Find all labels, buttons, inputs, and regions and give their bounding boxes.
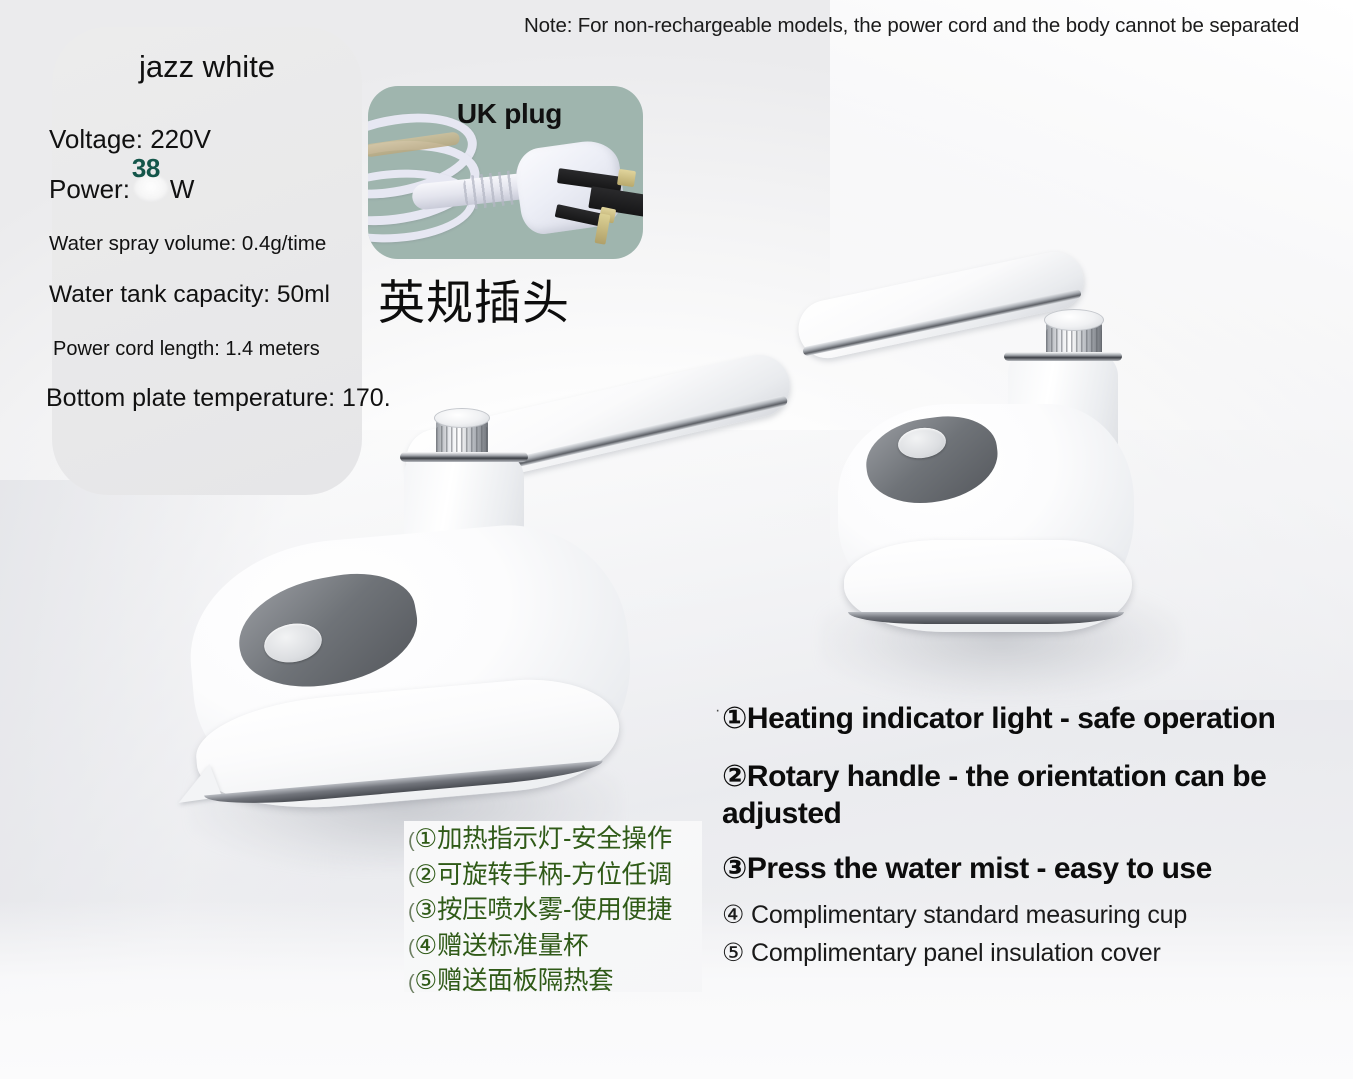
feature-text-cn: 按压喷水雾-使用便捷	[437, 896, 672, 924]
feature-number-cn: ②	[414, 861, 437, 889]
feature-item-en: ④ Complimentary standard measuring cup	[722, 898, 1187, 932]
spec-power-value-group: 38	[130, 197, 170, 198]
feature-item-cn: (⑤赠送面板隔热套	[408, 965, 708, 1001]
feature-number-cn: ③	[414, 896, 437, 924]
spec-cord-length: Power cord length: 1.4 meters	[53, 338, 320, 361]
feature-number-en: ②	[722, 760, 747, 793]
feature-text-en: Heating indicator light - safe operation	[747, 702, 1275, 735]
feature-item-en: ①Heating indicator light - safe operatio…	[722, 700, 1332, 737]
bullet-artifact: ·	[715, 702, 720, 720]
feature-item-en: ⑤ Complimentary panel insulation cover	[722, 936, 1161, 970]
uk-plug-caption-cn: 英规插头	[378, 274, 570, 332]
feature-text-en: Complimentary panel insulation cover	[744, 939, 1160, 967]
spec-water-spray: Water spray volume: 0.4g/time	[49, 232, 326, 256]
feature-item-cn: (③按压喷水雾-使用便捷	[408, 894, 708, 930]
spec-power: Power: 38 W	[49, 175, 194, 205]
feature-number-en: ④	[722, 901, 744, 929]
spec-plate-temperature: Bottom plate temperature: 170.	[46, 384, 391, 413]
feature-number-cn: ④	[414, 932, 437, 960]
plug-pin-neutral-tip	[617, 169, 636, 187]
feature-text-en: Press the water mist - easy to use	[747, 852, 1212, 885]
feature-list-cn: (①加热指示灯-安全操作 (②可旋转手柄-方位任调 (③按压喷水雾-使用便捷 (…	[408, 823, 708, 1001]
feature-item-cn: (④赠送标准量杯	[408, 930, 708, 966]
feature-text-cn: 加热指示灯-安全操作	[437, 825, 672, 853]
soleplate-chrome-rim	[848, 612, 1124, 624]
uk-plug-card: UK plug	[368, 86, 643, 259]
feature-number-cn: ①	[414, 825, 437, 853]
product-listing-image: Note: For non-rechargeable models, the p…	[0, 0, 1353, 1079]
feature-text-cn: 可旋转手柄-方位任调	[437, 861, 672, 889]
knob-cap	[434, 408, 490, 428]
feature-number-cn: ⑤	[414, 967, 437, 995]
knob-cap	[1044, 309, 1104, 331]
feature-item-en: ③Press the water mist - easy to use	[722, 850, 1332, 887]
feature-text-cn: 赠送面板隔热套	[437, 967, 613, 995]
uk-plug-label: UK plug	[368, 98, 643, 130]
feature-number-en: ①	[722, 702, 747, 735]
feature-text-en: Complimentary standard measuring cup	[744, 901, 1187, 929]
disclaimer-note: Note: For non-rechargeable models, the p…	[524, 13, 1353, 39]
specification-panel	[52, 27, 362, 495]
feature-item-cn: (②可旋转手柄-方位任调	[408, 859, 708, 895]
feature-number-en: ⑤	[722, 939, 744, 967]
product-color-title: jazz white	[52, 48, 362, 86]
feature-text-cn: 赠送标准量杯	[437, 932, 588, 960]
spec-power-unit: W	[170, 175, 195, 205]
spec-power-label: Power:	[49, 175, 130, 205]
feature-number-en: ③	[722, 852, 747, 885]
feature-item-en: ②Rotary handle - the orientation can be …	[722, 758, 1312, 832]
spec-power-value: 38	[132, 155, 160, 181]
pivot-chrome-band	[400, 452, 528, 462]
pivot-chrome-band	[1004, 352, 1122, 361]
feature-item-cn: (①加热指示灯-安全操作	[408, 823, 708, 859]
feature-text-en: Rotary handle - the orientation can be a…	[722, 760, 1266, 830]
spec-water-tank: Water tank capacity: 50ml	[49, 281, 330, 309]
spec-voltage: Voltage: 220V	[49, 125, 211, 155]
